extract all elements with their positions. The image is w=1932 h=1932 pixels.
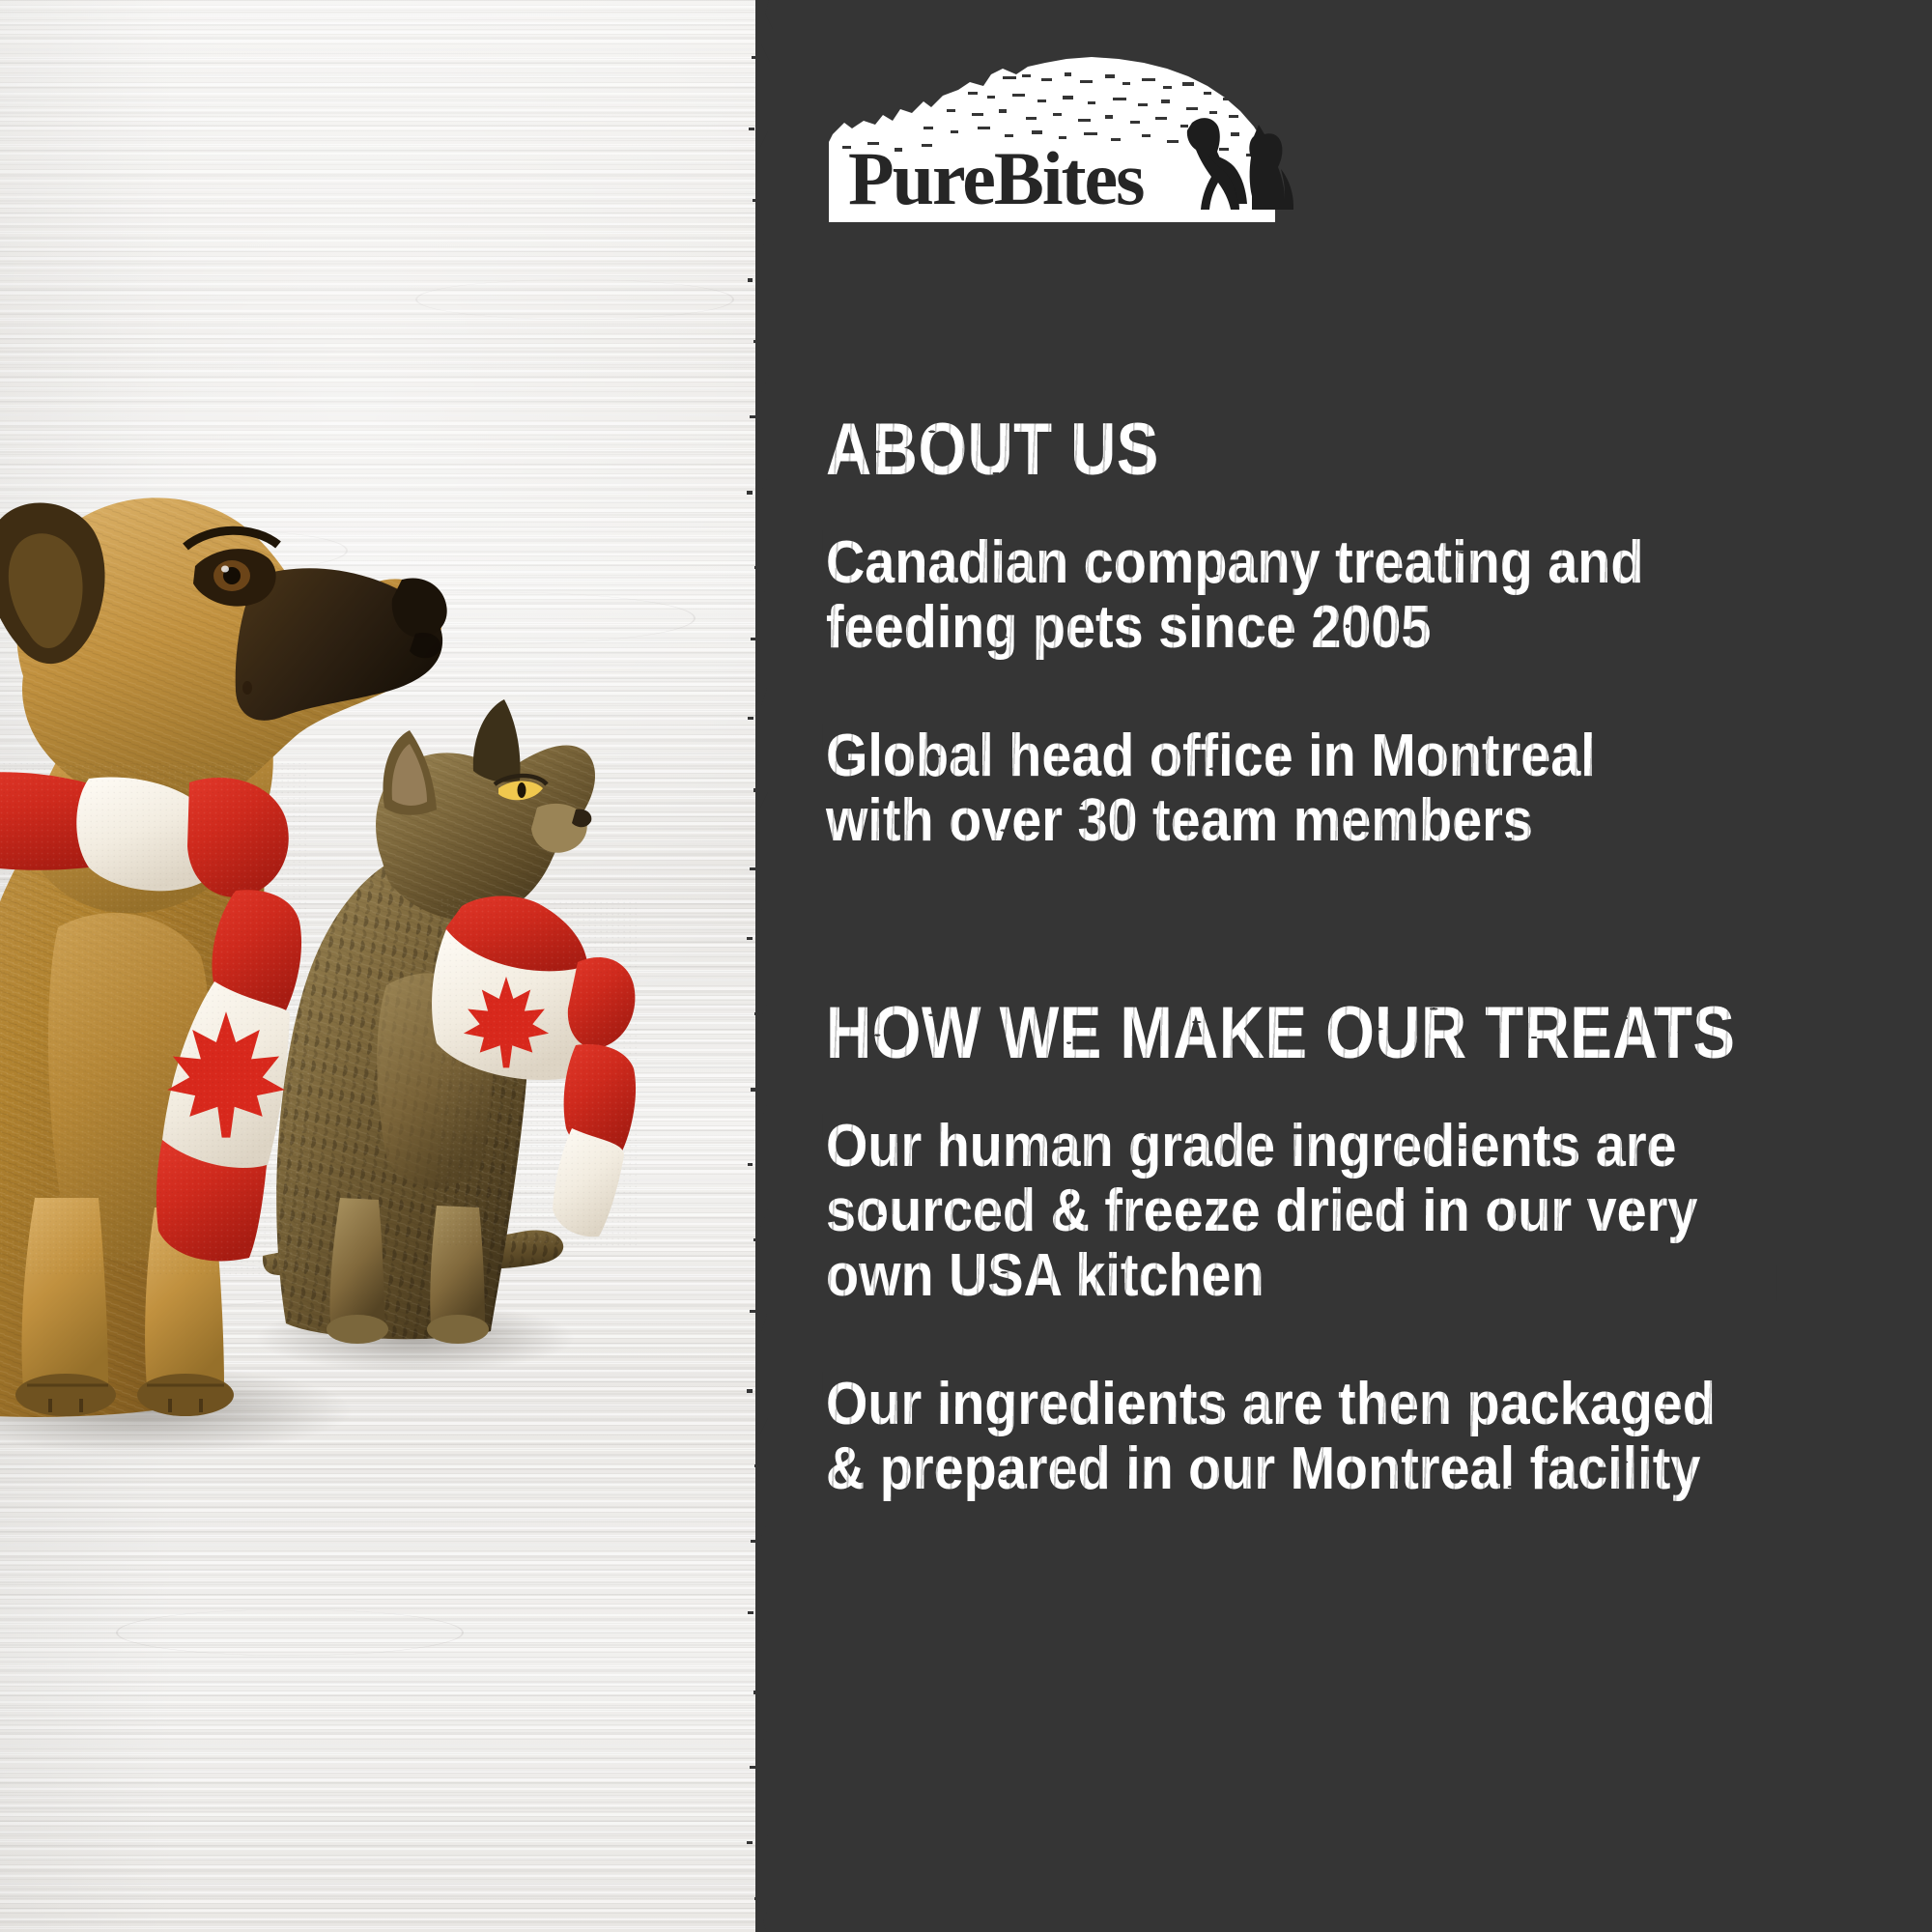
paragraph-line: own USA kitchen [826,1244,1774,1309]
pets-photo-illustration [0,0,782,1932]
copy-column: ABOUT US Canadian company treating and f… [826,415,1879,1502]
dog-eye-highlight [221,566,229,573]
paragraph-packaged-montreal: Our ingredients are then packaged & prep… [826,1373,1774,1502]
cat-paw [427,1315,489,1344]
paragraph-line: with over 30 team members [826,789,1774,854]
spacer [826,661,1879,724]
spacer [826,1309,1879,1373]
paragraph-line: Our human grade ingredients are [826,1115,1774,1179]
section-heading-about-us: ABOUT US [826,415,1731,485]
product-photo-panel [0,0,782,1932]
spacer [826,485,1879,531]
dog-paw [15,1374,116,1416]
purebites-logo[interactable]: PureBites [823,53,1329,222]
paragraph-canadian-company: Canadian company treating and feeding pe… [826,531,1774,661]
infographic-canvas: PureBites ABOUT US Canadian company trea… [0,0,1932,1932]
paragraph-line: feeding pets since 2005 [826,596,1774,661]
dog-canada-scarf [0,763,309,1275]
paragraph-line: sourced & freeze dried in our very [826,1179,1774,1244]
cat-canada-scarf [432,896,639,1247]
paragraph-head-office: Global head office in Montreal with over… [826,724,1774,854]
paragraph-line: Global head office in Montreal [826,724,1774,789]
cat-figure [263,699,639,1344]
cat-ear-right [473,699,521,782]
spacer [826,854,1879,999]
paragraph-human-grade: Our human grade ingredients are sourced … [826,1115,1774,1309]
cat-front-leg [329,1198,384,1333]
spacer [826,1068,1879,1115]
dog-paw [137,1374,234,1416]
cat-paw [327,1315,388,1344]
logo-wordmark: PureBites [848,136,1144,220]
logo-cat-silhouette [1249,125,1293,210]
cat-pupil [518,782,526,798]
dog-whisker-dot [242,681,252,695]
section-heading-how-we-make-our-treats: HOW WE MAKE OUR TREATS [826,999,1731,1068]
paragraph-line: Canadian company treating and [826,531,1774,596]
paragraph-line: & prepared in our Montreal facility [826,1437,1774,1502]
paragraph-line: Our ingredients are then packaged [826,1373,1774,1437]
